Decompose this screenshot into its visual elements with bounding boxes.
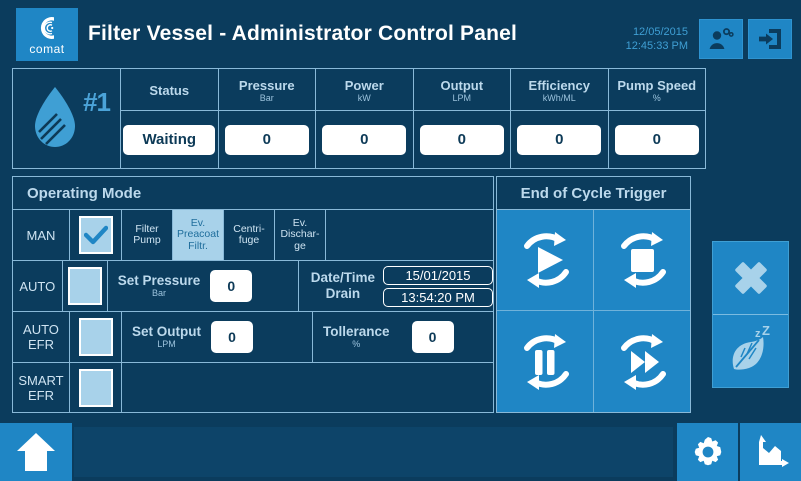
cycle-play-icon: [509, 224, 581, 296]
close-x-icon: [728, 255, 774, 301]
end-of-cycle-trigger-panel: End of Cycle Trigger: [496, 176, 691, 413]
control-panel-app: comat Filter Vessel - Administrator Cont…: [0, 0, 801, 481]
mode-label-man: MAN: [13, 210, 70, 260]
metric-pressure-head: Pressure Bar: [219, 69, 316, 111]
water-drop-icon: [31, 85, 79, 151]
cycle-forward-button[interactable]: [594, 311, 691, 412]
power-value: 0: [322, 125, 406, 155]
leaf-sleep-icon: z Z: [725, 326, 777, 376]
cycle-stop-icon: [606, 224, 678, 296]
drain-datetime-fields: 15/01/2015 13:54:20 PM: [383, 266, 493, 307]
mode-row-auto-efr: AUTOEFR Set Output LPM 0: [13, 312, 493, 363]
vessel-number: #1: [83, 87, 110, 118]
metric-output-name: Output: [440, 78, 483, 93]
trend-chart-button[interactable]: [738, 423, 801, 481]
mode-checkbox-cell-auto[interactable]: [63, 261, 108, 311]
pressure-value: 0: [225, 125, 309, 155]
mode-button-ev-discharge[interactable]: Ev. Dischar- ge: [275, 210, 326, 260]
checkbox-man[interactable]: [79, 216, 113, 254]
side-action-panel: z Z: [712, 241, 789, 388]
cycle-play-button[interactable]: [497, 210, 594, 311]
bottom-bar: [0, 423, 801, 481]
mode-button-ev-preacoat-filtr[interactable]: Ev. Preacoat Filtr.: [173, 210, 224, 260]
metric-pump-speed: Pump Speed % 0: [609, 69, 706, 168]
end-of-cycle-trigger-title: End of Cycle Trigger: [497, 177, 690, 210]
operating-mode-title: Operating Mode: [13, 177, 493, 210]
comat-c-logo-icon: [32, 14, 62, 42]
set-pressure-unit: Bar: [118, 288, 201, 299]
gear-icon: [690, 434, 726, 470]
sleep-eco-button[interactable]: z Z: [713, 315, 788, 387]
logout-button[interactable]: [748, 19, 792, 59]
metric-output-body: 0: [414, 111, 511, 168]
metric-status-name: Status: [149, 83, 189, 98]
tolerance-label: Tollerance %: [323, 324, 390, 350]
svg-text:z: z: [755, 328, 761, 340]
vessel-identity: #1: [13, 69, 121, 168]
set-output-label-text: Set Output: [132, 324, 201, 339]
set-pressure-input[interactable]: 0: [210, 270, 252, 302]
mode-label-auto-efr: AUTOEFR: [13, 312, 70, 362]
smart-efr-row-content: [122, 363, 493, 412]
status-value: Waiting: [123, 125, 215, 155]
tolerance-group: Tollerance % 0: [313, 312, 454, 362]
metric-power-body: 0: [316, 111, 413, 168]
metric-pump-speed-body: 0: [609, 111, 706, 168]
efficiency-value: 0: [517, 125, 601, 155]
mode-label-smart-efr: SMARTEFR: [13, 363, 70, 412]
checkbox-smart-efr[interactable]: [79, 369, 113, 407]
metric-efficiency-unit: kWh/ML: [543, 93, 576, 104]
metric-power-head: Power kW: [316, 69, 413, 111]
metric-pressure-body: 0: [219, 111, 316, 168]
settings-button[interactable]: [675, 423, 738, 481]
page-title: Filter Vessel - Administrator Control Pa…: [88, 22, 517, 46]
logout-arrow-icon: [757, 27, 783, 51]
metric-status: Status Waiting: [121, 69, 219, 168]
set-output-input[interactable]: 0: [211, 321, 253, 353]
vessel-readout-panel: #1 Status Waiting Pressure Bar 0 Power: [12, 68, 706, 169]
metric-power-name: Power: [345, 78, 384, 93]
app-header: comat Filter Vessel - Administrator Cont…: [0, 0, 801, 66]
checkbox-auto[interactable]: [68, 267, 102, 305]
metric-efficiency: Efficiency kWh/ML 0: [511, 69, 609, 168]
metric-output-unit: LPM: [452, 93, 471, 104]
mode-row-auto: AUTO Set Pressure Bar 0 Date/TimeDrain: [13, 261, 493, 312]
metric-pump-speed-unit: %: [653, 93, 661, 104]
status-message-bar: [74, 427, 673, 477]
metric-power: Power kW 0: [316, 69, 414, 168]
home-icon: [16, 431, 56, 473]
cycle-stop-button[interactable]: [594, 210, 691, 311]
drain-date-input[interactable]: 15/01/2015: [383, 266, 493, 285]
man-buttons: Filter Pump Ev. Preacoat Filtr. Centri- …: [122, 210, 493, 260]
cycle-pause-button[interactable]: [497, 311, 594, 412]
comat-logo: comat: [16, 8, 78, 61]
tolerance-input[interactable]: 0: [412, 321, 454, 353]
metric-pump-speed-name: Pump Speed: [617, 78, 696, 93]
mode-checkbox-cell-smart-efr[interactable]: [70, 363, 122, 412]
close-button[interactable]: [713, 242, 788, 315]
set-pressure-group: Set Pressure Bar 0: [108, 261, 298, 311]
mode-label-auto: AUTO: [13, 261, 63, 311]
cycle-pause-icon: [509, 326, 581, 398]
drain-datetime-group: Date/TimeDrain 15/01/2015 13:54:20 PM: [299, 261, 493, 311]
metric-pressure-name: Pressure: [239, 78, 295, 93]
mode-checkbox-cell-auto-efr[interactable]: [70, 312, 122, 362]
set-output-group: Set Output LPM 0: [122, 312, 312, 362]
mode-button-centrifuge[interactable]: Centri- fuge: [224, 210, 275, 260]
man-row-filler: [326, 210, 493, 260]
metric-output-head: Output LPM: [414, 69, 511, 111]
output-value: 0: [420, 125, 504, 155]
cycle-forward-icon: [606, 326, 678, 398]
pump-speed-value: 0: [615, 125, 699, 155]
clock-date: 12/05/2015: [626, 25, 688, 39]
user-settings-icon: [708, 28, 734, 50]
metric-efficiency-head: Efficiency kWh/ML: [511, 69, 608, 111]
tolerance-label-text: Tollerance: [323, 324, 390, 339]
metric-pump-speed-head: Pump Speed %: [609, 69, 706, 111]
drain-datetime-label: Date/TimeDrain: [311, 270, 375, 302]
svg-text:Z: Z: [762, 326, 770, 338]
mode-checkbox-cell-man[interactable]: [70, 210, 122, 260]
trend-chart-icon: [752, 433, 790, 471]
metric-status-head: Status: [121, 69, 218, 111]
comat-logo-text: comat: [29, 43, 64, 55]
user-settings-button[interactable]: [699, 19, 743, 59]
set-pressure-label: Set Pressure Bar: [118, 273, 201, 299]
tolerance-unit: %: [323, 339, 390, 350]
mode-button-filter-pump[interactable]: Filter Pump: [122, 210, 173, 260]
metric-pressure-unit: Bar: [260, 93, 274, 104]
clock-time: 12:45:33 PM: [626, 39, 688, 53]
metric-efficiency-name: Efficiency: [529, 78, 590, 93]
metric-output: Output LPM 0: [414, 69, 512, 168]
check-icon: [84, 225, 108, 245]
drain-time-input[interactable]: 13:54:20 PM: [383, 288, 493, 307]
end-of-cycle-trigger-grid: [497, 210, 690, 412]
mode-row-smart-efr: SMARTEFR: [13, 363, 493, 412]
metric-efficiency-body: 0: [511, 111, 608, 168]
set-output-unit: LPM: [132, 339, 201, 350]
metric-power-unit: kW: [358, 93, 371, 104]
home-button[interactable]: [0, 423, 72, 481]
auto-row-content: Set Pressure Bar 0 Date/TimeDrain 15/01/…: [108, 261, 493, 311]
metric-status-body: Waiting: [121, 111, 218, 168]
set-pressure-label-text: Set Pressure: [118, 273, 201, 288]
operating-mode-panel: Operating Mode MAN Filter Pump Ev. Preac…: [12, 176, 494, 413]
set-output-label: Set Output LPM: [132, 324, 201, 350]
checkbox-auto-efr[interactable]: [79, 318, 113, 356]
clock: 12/05/2015 12:45:33 PM: [626, 25, 688, 53]
mode-row-man: MAN Filter Pump Ev. Preacoat Filtr. Cent…: [13, 210, 493, 261]
metric-pressure: Pressure Bar 0: [219, 69, 317, 168]
auto-efr-row-content: Set Output LPM 0 Tollerance % 0: [122, 312, 493, 362]
